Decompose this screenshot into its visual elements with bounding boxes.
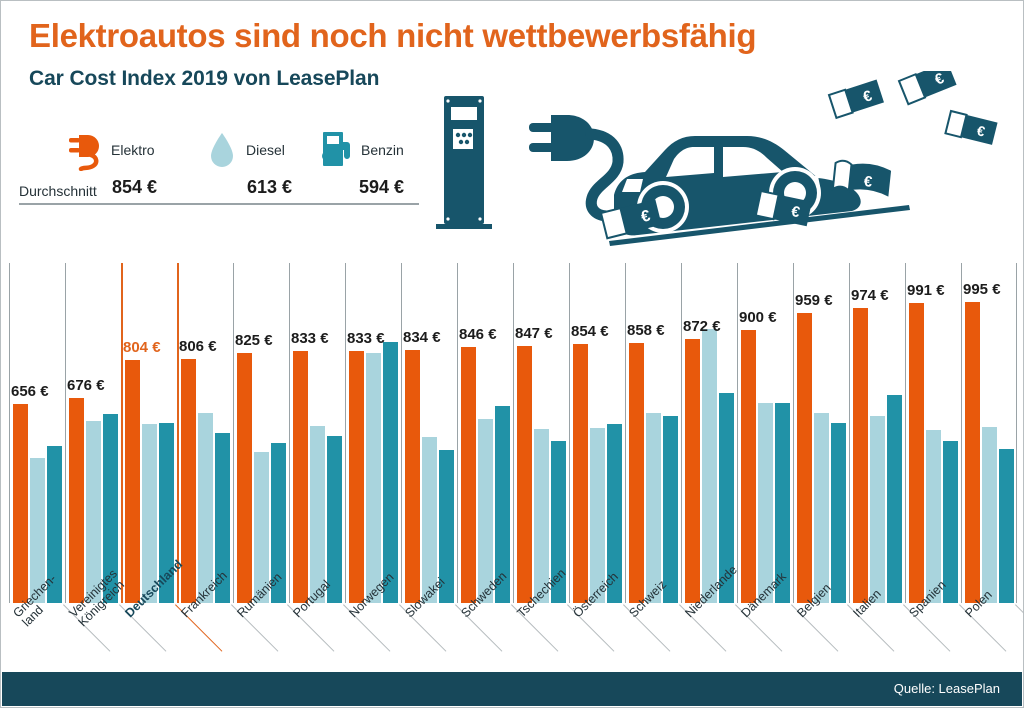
bar-stack: [457, 263, 513, 603]
bar-diesel: [86, 421, 101, 603]
bar-group: 854 €: [569, 263, 625, 603]
bar-group: 991 €: [905, 263, 961, 603]
fuel-pump-icon: [317, 129, 357, 171]
bar-value-label: 846 €: [459, 326, 497, 343]
bar-group: 858 €: [625, 263, 681, 603]
bar-value-label: 656 €: [11, 383, 49, 400]
bar-stack: [9, 263, 65, 603]
bar-value-label: 959 €: [795, 292, 833, 309]
bar-elektro: [909, 303, 924, 603]
bar-diesel: [870, 416, 885, 603]
bar-diesel: [814, 413, 829, 603]
bar-diesel: [758, 403, 773, 603]
bar-group: 846 €: [457, 263, 513, 603]
bar-elektro: [405, 350, 420, 603]
bar-diesel: [982, 427, 997, 603]
bar-stack: [905, 263, 961, 603]
bar-group: 834 €: [401, 263, 457, 603]
infographic-root: Elektroautos sind noch nicht wettbewerbs…: [0, 0, 1024, 708]
bar-stack: [345, 263, 401, 603]
bar-value-label: 872 €: [683, 318, 721, 335]
legend-divider: [19, 203, 419, 205]
bar-stack: [849, 263, 905, 603]
bar-group: 974 €: [849, 263, 905, 603]
electric-car-icon: [609, 136, 910, 246]
bar-stack: [681, 263, 737, 603]
bar-value-label: 991 €: [907, 282, 945, 299]
plug-icon: [67, 129, 107, 171]
bar-stack: [961, 263, 1017, 603]
legend: Elektro Diesel Be: [19, 127, 439, 207]
bar-group: 872 €: [681, 263, 737, 603]
average-elektro: 854 €: [112, 177, 157, 198]
bar-group: 833 €: [345, 263, 401, 603]
bar-stack: [625, 263, 681, 603]
bar-benzin: [663, 416, 678, 603]
bar-diesel: [366, 353, 381, 603]
bar-benzin: [383, 342, 398, 603]
bar-value-label: 995 €: [963, 281, 1001, 298]
footer-bar: Quelle: LeasePlan: [2, 672, 1022, 706]
bar-stack: [289, 263, 345, 603]
bar-group: 806 €: [177, 263, 233, 603]
source-attribution: Quelle: LeasePlan: [894, 681, 1000, 696]
x-axis-tick: [1015, 604, 1024, 651]
bar-stack: [793, 263, 849, 603]
bar-group: 676 €: [65, 263, 121, 603]
bar-value-label: 900 €: [739, 309, 777, 326]
bar-elektro: [237, 353, 252, 603]
bar-elektro: [629, 343, 644, 603]
bar-group: 825 €: [233, 263, 289, 603]
bar-value-label: 847 €: [515, 325, 553, 342]
bar-benzin: [327, 436, 342, 603]
bar-value-label: 854 €: [571, 323, 609, 340]
bar-value-label: 833 €: [291, 330, 329, 347]
bar-diesel: [198, 413, 213, 603]
x-axis-labels: Griechen- landVereinigtes KönigreichDeut…: [9, 605, 1017, 681]
group-separator: [1016, 263, 1017, 603]
page-title: Elektroautos sind noch nicht wettbewerbs…: [29, 17, 756, 55]
bar-group: 995 €: [961, 263, 1017, 603]
plug-cable-icon: [529, 115, 618, 216]
bar-elektro: [125, 360, 140, 603]
bar-value-label: 833 €: [347, 330, 385, 347]
bar-elektro: [573, 344, 588, 603]
bar-stack: [401, 263, 457, 603]
bar-stack: [121, 263, 177, 603]
bar-benzin: [887, 395, 902, 603]
bar-elektro: [853, 308, 868, 603]
illustration: € € € €: [431, 71, 1011, 271]
bar-value-label: 858 €: [627, 322, 665, 339]
average-diesel: 613 €: [247, 177, 292, 198]
bar-group: 847 €: [513, 263, 569, 603]
average-caption: Durchschnitt: [19, 183, 97, 199]
bar-group: 900 €: [737, 263, 793, 603]
bar-elektro: [461, 347, 476, 603]
bar-elektro: [69, 398, 84, 603]
legend-label-diesel: Diesel: [246, 142, 285, 158]
bar-group: 959 €: [793, 263, 849, 603]
bar-benzin: [943, 441, 958, 603]
bar-value-label: 825 €: [235, 332, 273, 349]
page-subtitle: Car Cost Index 2019 von LeasePlan: [29, 67, 379, 91]
bar-value-label: 804 €: [123, 339, 161, 356]
bar-stack: [233, 263, 289, 603]
bar-benzin: [831, 423, 846, 603]
bar-group: 833 €: [289, 263, 345, 603]
bar-stack: [569, 263, 625, 603]
bar-value-label: 676 €: [67, 377, 105, 394]
bar-elektro: [685, 339, 700, 603]
bar-diesel: [646, 413, 661, 603]
bar-group: 656 €: [9, 263, 65, 603]
bar-diesel: [702, 329, 717, 603]
average-benzin: 594 €: [359, 177, 404, 198]
bar-benzin: [999, 449, 1014, 603]
legend-label-benzin: Benzin: [361, 142, 404, 158]
bar-chart: 656 €676 €804 €806 €825 €833 €833 €834 €…: [9, 263, 1017, 603]
bar-value-label: 806 €: [179, 338, 217, 355]
bar-stack: [513, 263, 569, 603]
bar-elektro: [349, 351, 364, 603]
bar-value-label: 974 €: [851, 287, 889, 304]
bar-group: 804 €: [121, 263, 177, 603]
bar-diesel: [478, 419, 493, 603]
bar-elektro: [293, 351, 308, 603]
bar-elektro: [965, 302, 980, 603]
bar-stack: [177, 263, 233, 603]
bar-elektro: [797, 313, 812, 603]
legend-label-elektro: Elektro: [111, 142, 155, 158]
bar-elektro: [741, 330, 756, 603]
droplet-icon: [202, 129, 242, 171]
charging-station-icon: [436, 96, 492, 229]
bar-stack: [65, 263, 121, 603]
bar-value-label: 834 €: [403, 329, 441, 346]
bar-elektro: [517, 346, 532, 603]
bar-elektro: [13, 404, 28, 603]
